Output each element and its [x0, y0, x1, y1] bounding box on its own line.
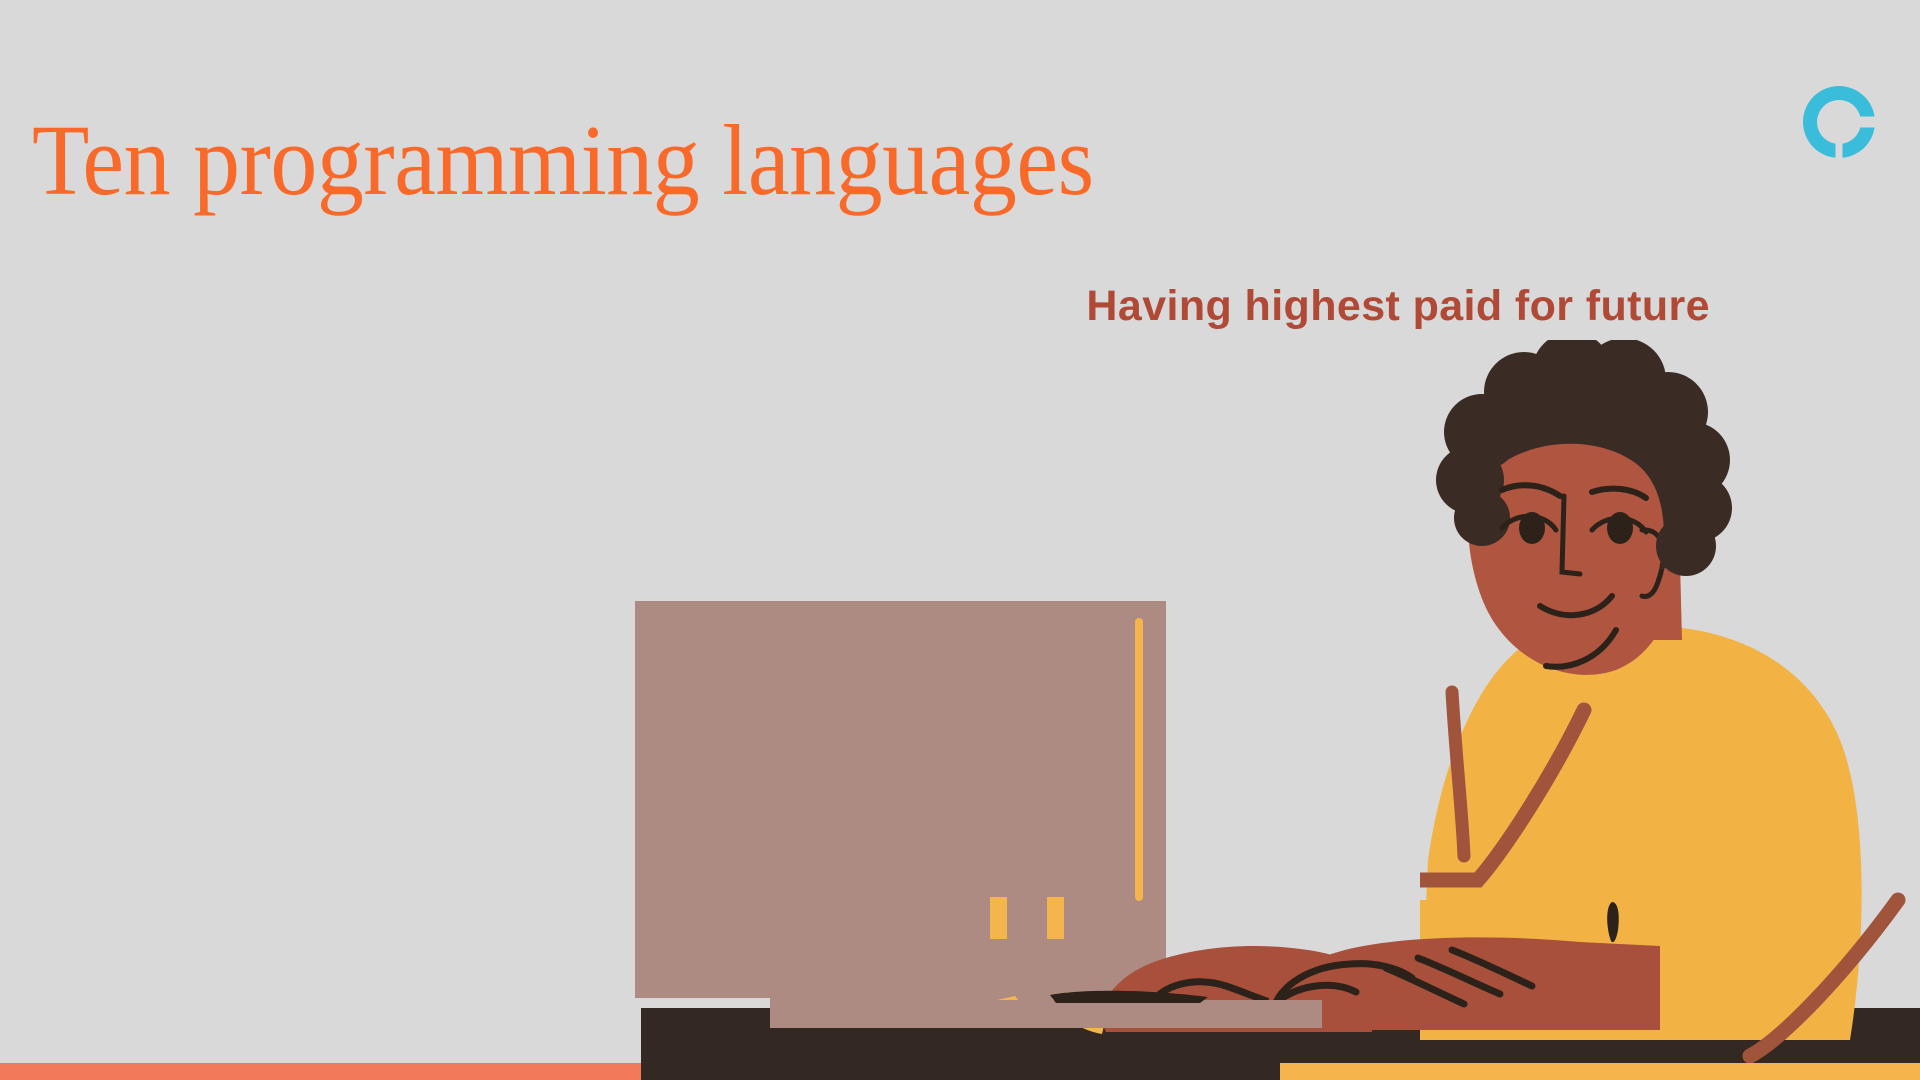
keyboard: [770, 1000, 1322, 1028]
monitor-screen-accent-line: [1135, 618, 1143, 901]
page-subtitle: Having highest paid for future: [1086, 285, 1710, 328]
slide-canvas: Ten programming languages Having highest…: [0, 0, 1920, 1080]
keyboard-key-left: [990, 897, 1007, 939]
circle-c-logo-icon: [1800, 83, 1878, 161]
footer-stripe-yellow: [1280, 1063, 1920, 1080]
page-title: Ten programming languages: [32, 110, 1094, 211]
keyboard-keycap-dark: [1050, 989, 1210, 1003]
footer-stripe-salmon: [0, 1063, 641, 1080]
footer-stripe-dark: [641, 1063, 1280, 1080]
